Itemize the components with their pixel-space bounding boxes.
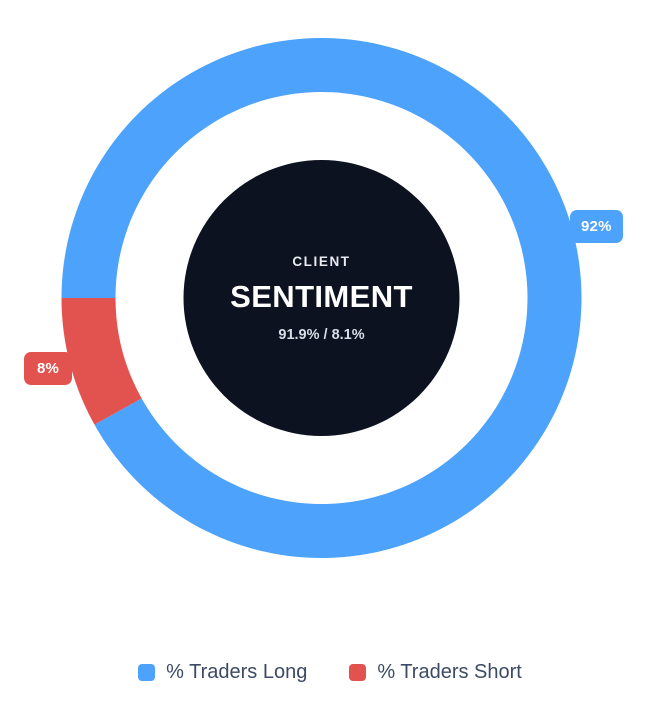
chart-legend: % Traders Long % Traders Short	[0, 662, 660, 682]
legend-swatch-icon	[138, 664, 155, 681]
client-sentiment-chart: CLIENT SENTIMENT 91.9% / 8.1% 92% 8% % T…	[0, 0, 660, 723]
donut-center-hub	[184, 160, 460, 436]
value-badge-traders-long: 92%	[570, 210, 623, 243]
donut-chart-area: CLIENT SENTIMENT 91.9% / 8.1% 92% 8%	[0, 0, 660, 650]
donut-svg	[0, 0, 660, 650]
legend-item-traders-short[interactable]: % Traders Short	[349, 662, 522, 682]
legend-item-label: % Traders Long	[166, 662, 307, 682]
legend-item-label: % Traders Short	[377, 662, 522, 682]
value-badge-traders-short: 8%	[24, 352, 72, 385]
legend-swatch-icon	[349, 664, 366, 681]
legend-item-traders-long[interactable]: % Traders Long	[138, 662, 307, 682]
